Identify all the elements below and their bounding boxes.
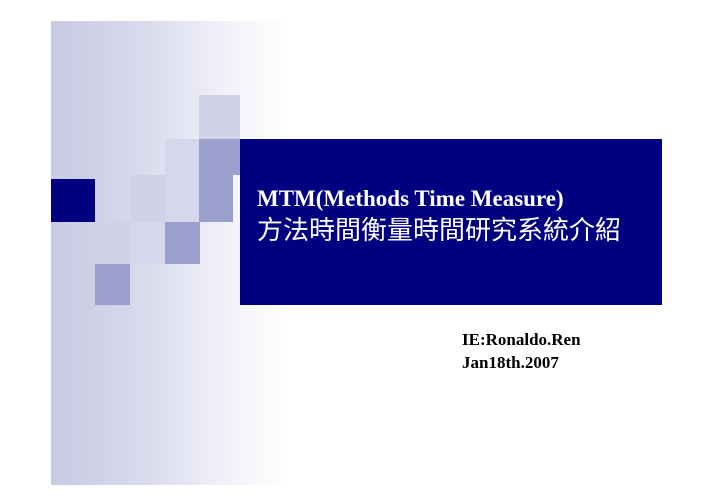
- decor-square-lavender-r3c3: [130, 175, 165, 222]
- slide-title-chinese: 方法時間衡量時間研究系統介紹: [257, 214, 657, 248]
- author-block: IE:Ronaldo.Ren Jan18th.2007: [462, 328, 581, 374]
- decor-square-lavender-r4c3: [130, 222, 165, 264]
- title-block: MTM(Methods Time Measure) 方法時間衡量時間研究系統介紹: [257, 184, 657, 248]
- decor-square-lavender-r4c2: [95, 222, 130, 264]
- author-name: IE:Ronaldo.Ren: [462, 328, 581, 351]
- decor-square-periwinkle-r5c2: [95, 264, 130, 305]
- decor-square-periwinkle-r3c5: [199, 175, 233, 222]
- slide-title-english: MTM(Methods Time Measure): [257, 184, 657, 214]
- decor-square-navy-left: [51, 179, 95, 222]
- presentation-title-slide: MTM(Methods Time Measure) 方法時間衡量時間研究系統介紹…: [0, 0, 713, 504]
- decor-square-lavender-r2c5: [165, 139, 199, 175]
- presentation-date: Jan18th.2007: [462, 351, 581, 374]
- decor-square-lavender-r3c4: [165, 175, 199, 222]
- decor-square-lavender-r1c6: [199, 95, 240, 139]
- decor-square-periwinkle-r4c4: [165, 222, 200, 264]
- decor-square-periwinkle-r2c6: [199, 139, 240, 175]
